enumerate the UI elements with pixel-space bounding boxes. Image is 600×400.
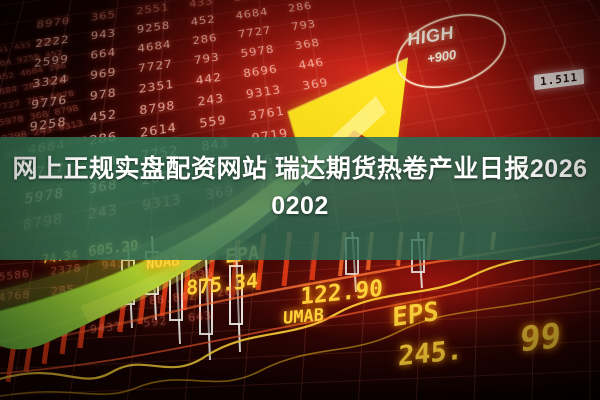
vignette-overlay	[0, 0, 600, 400]
promo-banner-image: 8970 365 2551 433 1264 2551 433 1264 925…	[0, 0, 600, 400]
